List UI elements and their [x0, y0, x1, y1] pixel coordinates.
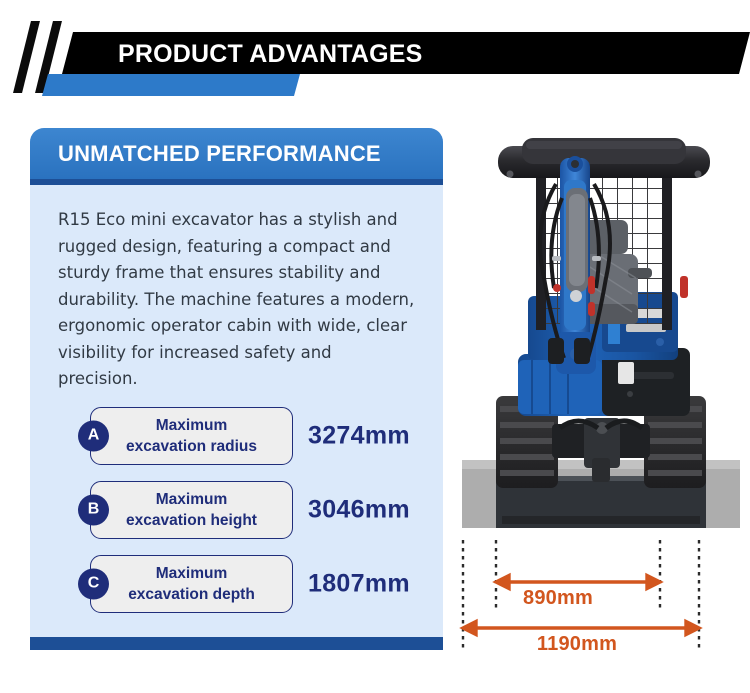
spec-value-a: 3274mm: [308, 421, 410, 450]
spec-badge-c: C: [78, 568, 109, 599]
spec-label-line1: Maximum: [156, 415, 228, 436]
spec-label-line1: Maximum: [156, 489, 228, 510]
spec-label-line2: excavation radius: [126, 436, 257, 457]
spec-row: C Maximum excavation depth 1807mm: [58, 555, 415, 613]
product-description: R15 Eco mini excavator has a stylish and…: [58, 207, 415, 393]
spec-label-a: Maximum excavation radius: [90, 407, 293, 465]
spec-row: B Maximum excavation height 3046mm: [58, 481, 415, 539]
performance-card-title: UNMATCHED PERFORMANCE: [30, 141, 381, 167]
performance-card-header: UNMATCHED PERFORMANCE: [30, 128, 443, 185]
spec-label-c: Maximum excavation depth: [90, 555, 293, 613]
spec-label-line1: Maximum: [156, 563, 228, 584]
dimension-label-890: 890mm: [452, 587, 664, 610]
spec-value-b: 3046mm: [308, 495, 410, 524]
spec-badge-b: B: [78, 494, 109, 525]
banner-blue-accent-bar: [42, 74, 300, 96]
performance-card-body: R15 Eco mini excavator has a stylish and…: [30, 185, 443, 613]
performance-card: UNMATCHED PERFORMANCE R15 Eco mini excav…: [30, 128, 443, 650]
product-image: [452, 128, 750, 558]
dimension-annotations: 890mm 1190mm: [452, 540, 750, 693]
spec-label-line2: excavation height: [126, 510, 257, 531]
product-advantages-page: PRODUCT ADVANTAGES UNMATCHED PERFORMANCE…: [0, 0, 750, 693]
performance-card-footer: [30, 637, 443, 650]
canopy: [498, 138, 710, 178]
dimension-label-1190: 1190mm: [452, 633, 702, 656]
side-marker: [680, 276, 688, 298]
spec-list: A Maximum excavation radius 3274mm B Max…: [58, 407, 415, 613]
spec-badge-a: A: [78, 420, 109, 451]
spec-row: A Maximum excavation radius 3274mm: [58, 407, 415, 465]
page-title: PRODUCT ADVANTAGES: [118, 34, 423, 74]
spec-value-c: 1807mm: [308, 569, 410, 598]
slash-decoration-icon: [13, 21, 40, 93]
spec-label-line2: excavation depth: [128, 584, 255, 605]
decal-label: [618, 362, 634, 384]
spec-label-b: Maximum excavation height: [90, 481, 293, 539]
page-banner: PRODUCT ADVANTAGES: [0, 0, 750, 108]
